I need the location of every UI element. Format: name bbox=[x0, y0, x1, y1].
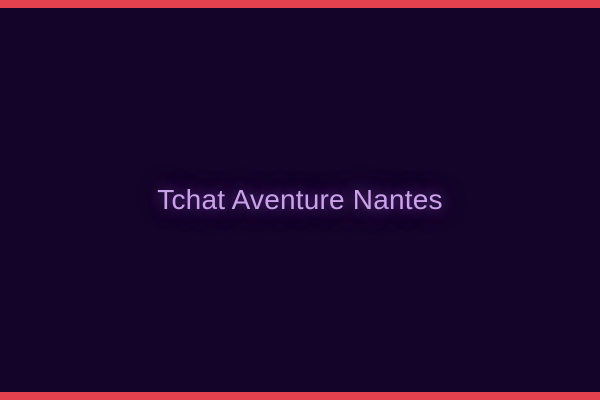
page-title: Tchat Aventure Nantes bbox=[157, 184, 442, 216]
bottom-accent-bar bbox=[0, 392, 600, 400]
top-accent-bar bbox=[0, 0, 600, 8]
banner-card: Tchat Aventure Nantes bbox=[0, 0, 600, 400]
banner-body: Tchat Aventure Nantes bbox=[0, 8, 600, 392]
